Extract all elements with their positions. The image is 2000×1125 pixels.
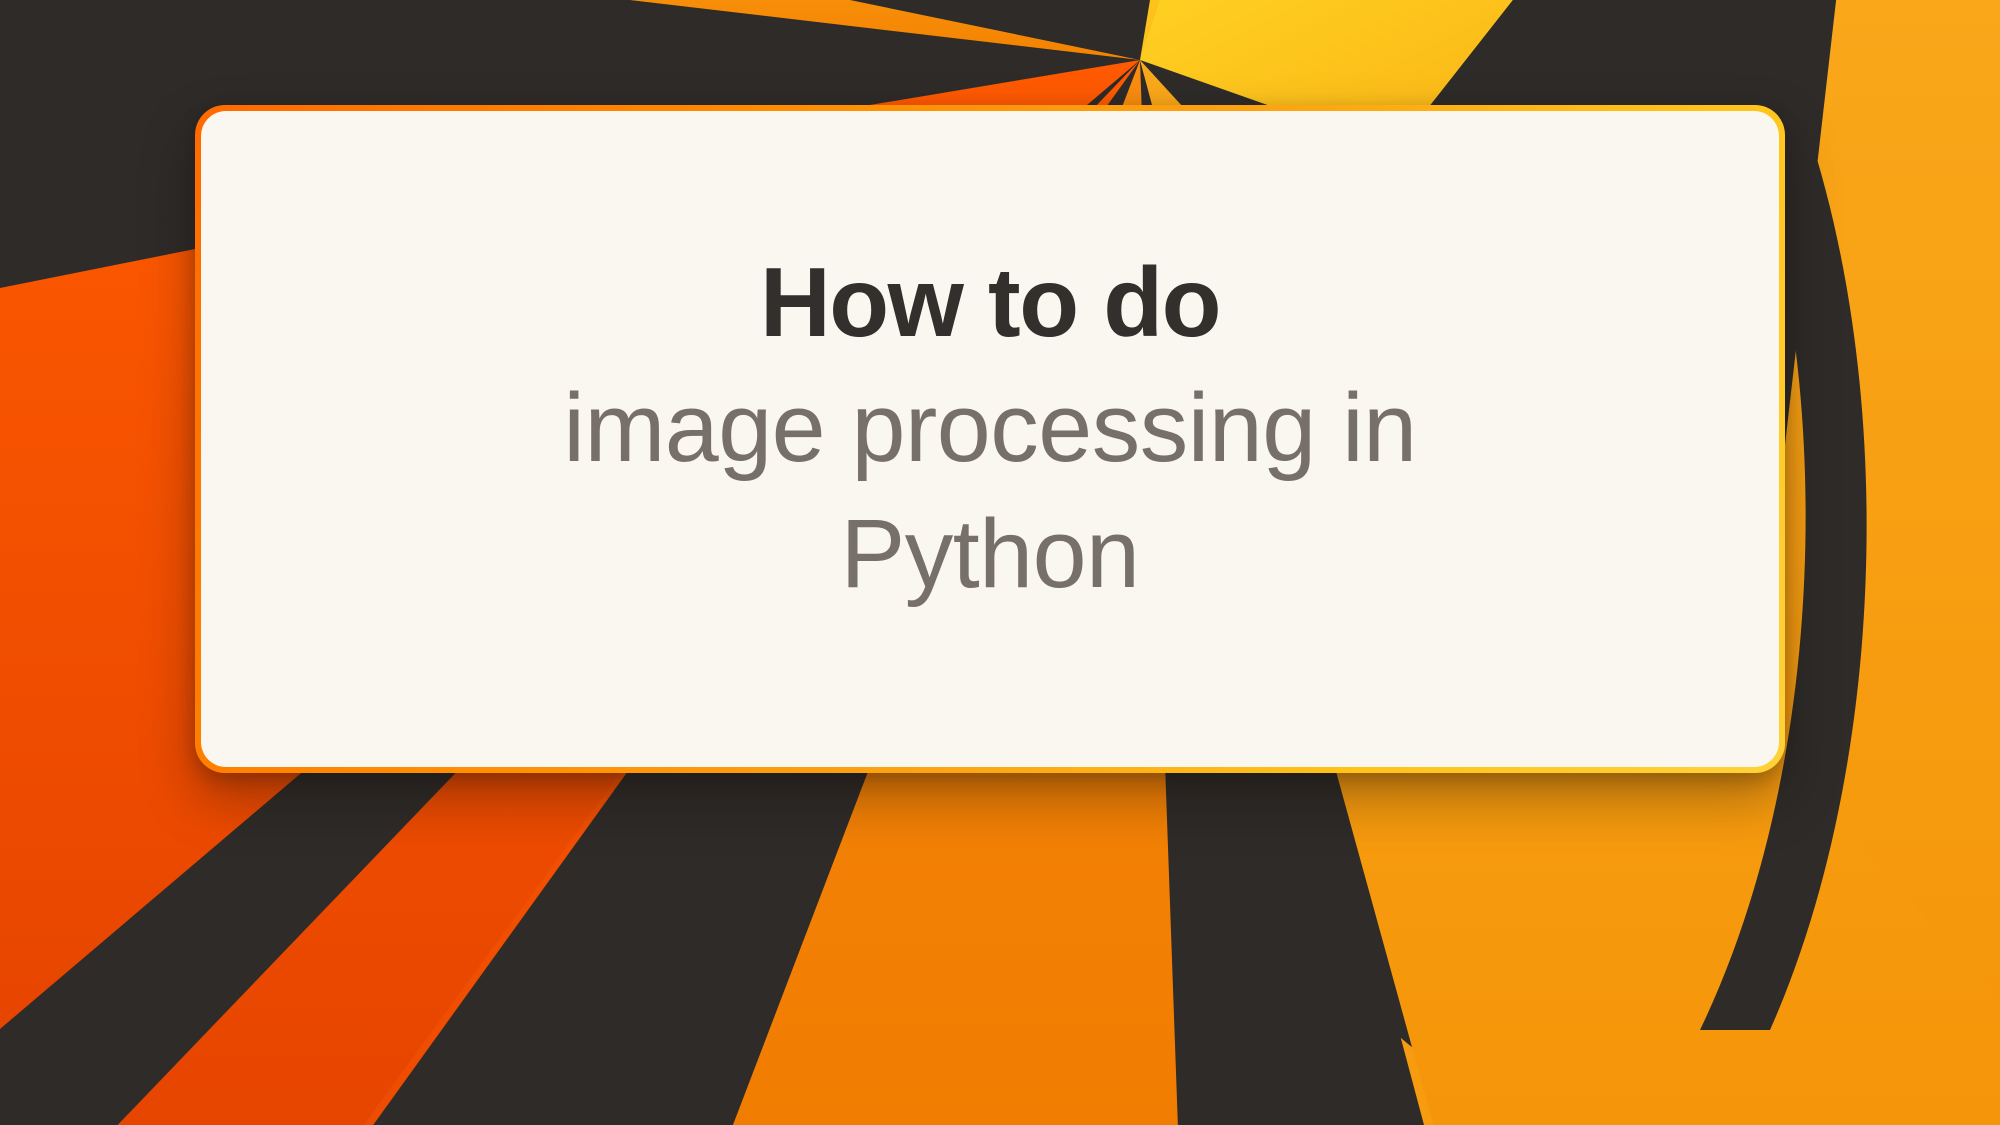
- page-title: How to do: [760, 245, 1220, 361]
- page-subtitle: image processing in Python: [445, 365, 1535, 617]
- card-body: How to do image processing in Python: [201, 111, 1779, 767]
- slide-canvas: How to do image processing in Python: [0, 0, 2000, 1125]
- content-card: How to do image processing in Python: [195, 105, 1785, 773]
- card-border-frame: How to do image processing in Python: [195, 105, 1785, 773]
